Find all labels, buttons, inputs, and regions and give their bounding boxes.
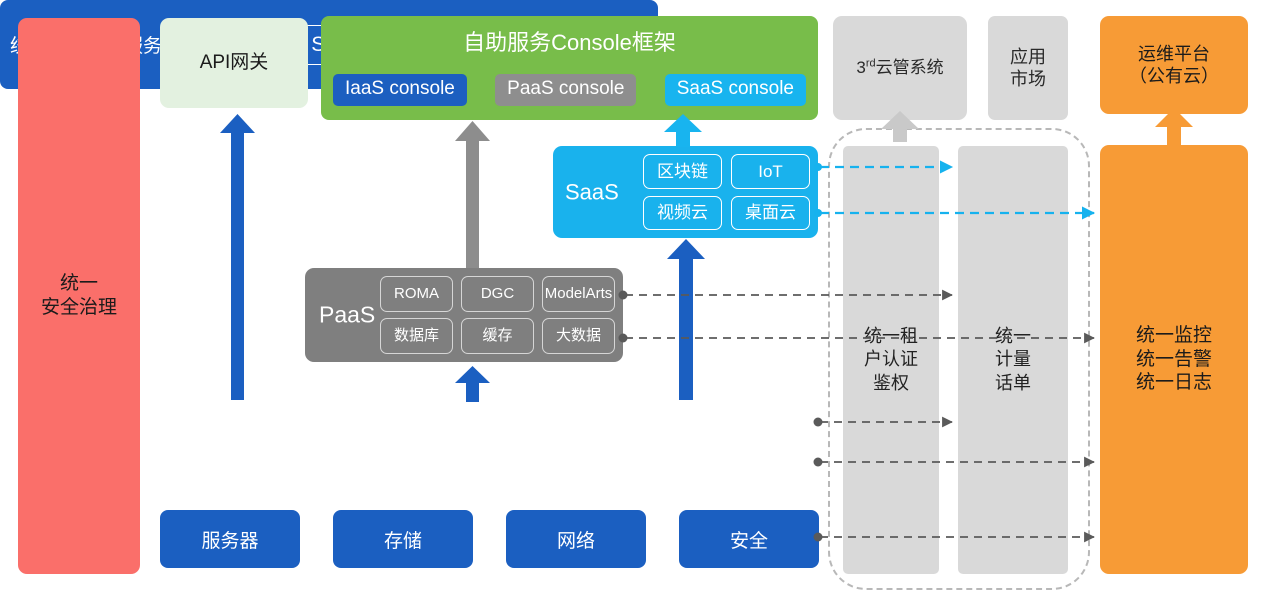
resource-box-server[interactable]: 服务器: [160, 510, 300, 568]
security-panel-line1: 统一: [41, 272, 117, 296]
arrow-infra-to-saas: [667, 239, 705, 400]
saas-service-chips: 区块链 IoT 视频云 桌面云: [643, 154, 810, 230]
resource-label-server: 服务器: [201, 526, 258, 553]
paas-chip-roma[interactable]: ROMA: [380, 276, 453, 312]
third-party-cloud-mgmt-box: 3rd云管系统: [833, 16, 967, 120]
arrow-paas-to-console: [455, 121, 490, 268]
security-governance-panel: 统一 安全治理: [18, 18, 140, 574]
paas-layer-box: PaaS ROMA DGC ModelArts 数据库 缓存 大数据: [305, 268, 623, 362]
saas-console-badge[interactable]: SaaS console: [665, 74, 806, 106]
meter-column-line2: 计量: [995, 348, 1031, 371]
auth-column-line3: 鉴权: [864, 372, 918, 395]
app-market-line2: 市场: [1010, 68, 1046, 91]
meter-column-line3: 话单: [995, 372, 1031, 395]
meter-column-line1: 统一: [995, 325, 1031, 348]
auth-column-line2: 户认证: [864, 348, 918, 371]
ops-alarm-label: 统一告警: [1136, 348, 1212, 372]
app-market-line1: 应用: [1010, 46, 1046, 69]
paas-chip-database[interactable]: 数据库: [380, 318, 453, 354]
paas-chip-bigdata[interactable]: 大数据: [542, 318, 615, 354]
resource-box-network[interactable]: 网络: [506, 510, 646, 568]
unified-tenant-auth-column: 统一租 户认证 鉴权: [843, 146, 939, 574]
paas-service-chips: ROMA DGC ModelArts 数据库 缓存 大数据: [380, 276, 615, 354]
api-gateway-box: API网关: [160, 18, 308, 108]
saas-layer-label: SaaS: [565, 178, 619, 206]
console-framework-title: 自助服务Console框架: [321, 29, 818, 57]
auth-column-line1: 统一租: [864, 325, 918, 348]
ops-platform-top-line1: 运维平台: [1129, 43, 1219, 66]
resource-box-storage[interactable]: 存储: [333, 510, 473, 568]
app-market-box: 应用 市场: [988, 16, 1068, 120]
paas-chip-modelarts[interactable]: ModelArts: [542, 276, 615, 312]
saas-layer-box: SaaS 区块链 IoT 视频云 桌面云: [553, 146, 818, 238]
ops-platform-top-line2: （公有云）: [1129, 65, 1219, 88]
ops-log-label: 统一日志: [1136, 371, 1212, 395]
arrow-infra-to-api-gateway: [220, 114, 255, 400]
resource-label-storage: 存储: [384, 526, 422, 553]
architecture-diagram: 统一 安全治理 API网关 自助服务Console框架 IaaS console…: [0, 0, 1265, 605]
ops-platform-monitoring-panel: 统一监控 统一告警 统一日志: [1100, 145, 1248, 574]
resource-label-security: 安全: [730, 526, 768, 553]
paas-layer-label: PaaS: [319, 301, 375, 330]
paas-console-badge[interactable]: PaaS console: [495, 74, 636, 106]
saas-chip-iot[interactable]: IoT: [731, 154, 810, 189]
console-framework-box: 自助服务Console框架 IaaS console PaaS console …: [321, 16, 818, 120]
third-party-suffix: 云管系统: [876, 58, 944, 77]
resource-label-network: 网络: [557, 526, 595, 553]
iaas-console-badge[interactable]: IaaS console: [333, 74, 467, 106]
console-badge-group: IaaS console PaaS console SaaS console: [333, 74, 806, 106]
paas-chip-cache[interactable]: 缓存: [461, 318, 534, 354]
api-gateway-label: API网关: [200, 51, 269, 75]
unified-metering-billing-column: 统一 计量 话单: [958, 146, 1068, 574]
arrow-infra-to-paas: [455, 366, 490, 402]
third-party-prefix: 3: [856, 58, 865, 77]
resource-box-security[interactable]: 安全: [679, 510, 819, 568]
ops-monitoring-label: 统一监控: [1136, 324, 1212, 348]
security-panel-line2: 安全治理: [41, 296, 117, 320]
paas-chip-dgc[interactable]: DGC: [461, 276, 534, 312]
saas-chip-desktop-cloud[interactable]: 桌面云: [731, 196, 810, 231]
saas-chip-blockchain[interactable]: 区块链: [643, 154, 722, 189]
ops-platform-public-cloud-box: 运维平台 （公有云）: [1100, 16, 1248, 114]
third-party-superscript: rd: [866, 58, 876, 70]
saas-chip-video-cloud[interactable]: 视频云: [643, 196, 722, 231]
